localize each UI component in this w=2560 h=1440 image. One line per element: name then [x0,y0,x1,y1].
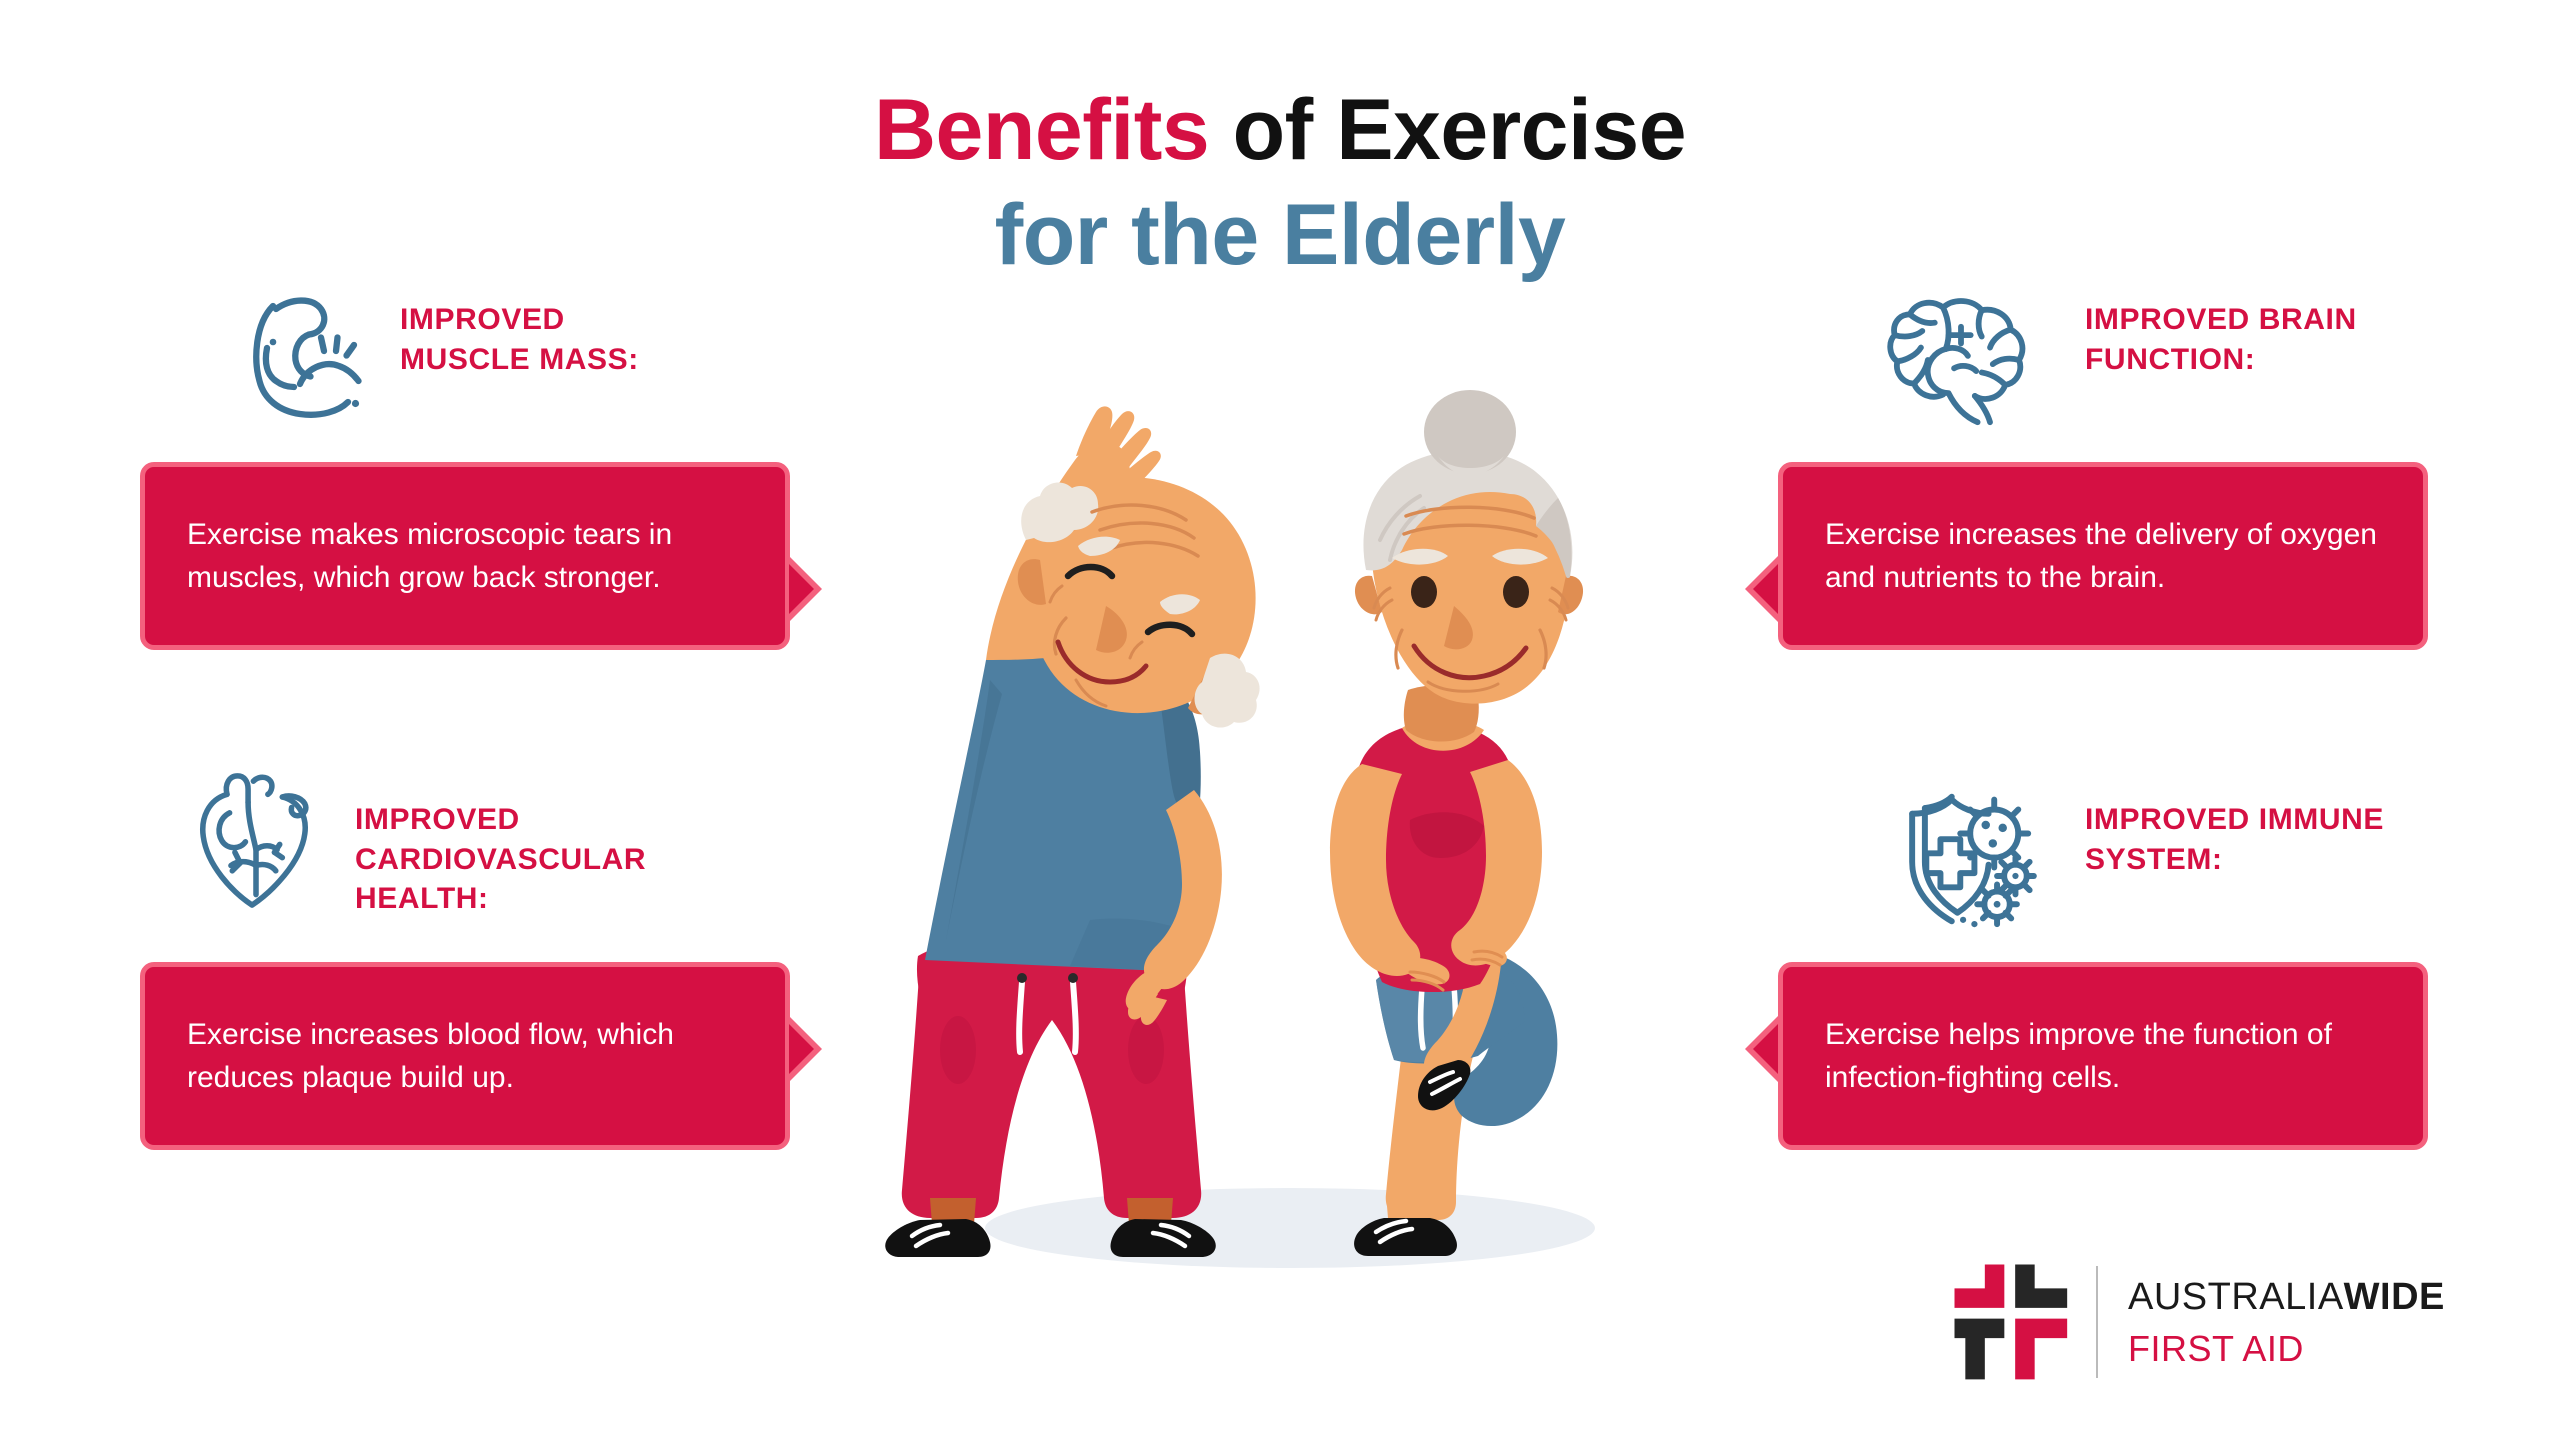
card-brain-function-text: Exercise increases the delivery of oxyge… [1825,513,2381,600]
logo-wordmark-secondary: FIRST AID [2128,1328,2304,1370]
card-brain-function: Exercise increases the delivery of oxyge… [1778,462,2428,650]
heading-muscle-mass: IMPROVED MUSCLE MASS: [400,300,700,379]
card-cardiovascular-health-text: Exercise increases blood flow, which red… [187,1013,743,1100]
title-highlight: Benefits [874,82,1209,178]
logo-word-australia: AUSTRALIA [2128,1276,2344,1318]
logo-divider [2096,1266,2098,1378]
card-immune-system-text: Exercise helps improve the function of i… [1825,1013,2381,1100]
title-rest: of Exercise [1209,82,1686,178]
title-line-1: Benefits of Exercise [0,78,2560,183]
brain-icon [1885,290,2037,430]
logo-wordmark-primary: AUSTRALIAWIDE [2128,1276,2445,1319]
heart-icon [190,768,322,913]
flexed-bicep-icon [240,288,390,438]
australia-wide-first-aid-logo[interactable]: AUSTRALIAWIDE FIRST AID [1948,1258,2428,1388]
infographic-canvas: Benefits of Exercise for the Elderly IMP… [0,0,2560,1440]
card-immune-system: Exercise helps improve the function of i… [1778,962,2428,1150]
heading-immune-system: IMPROVED IMMUNE SYSTEM: [2085,800,2405,879]
card-muscle-mass-text: Exercise makes microscopic tears in musc… [187,513,743,600]
card-muscle-mass: Exercise makes microscopic tears in musc… [140,462,790,650]
elderly-couple-exercising-illustration [790,360,1790,1340]
title-line-2: for the Elderly [0,183,2560,288]
page-title: Benefits of Exercise for the Elderly [0,78,2560,288]
card-cardiovascular-health: Exercise increases blood flow, which red… [140,962,790,1150]
australia-wide-cross-mark [1948,1258,2078,1388]
heading-brain-function: IMPROVED BRAIN FUNCTION: [2085,300,2405,379]
shield-virus-icon [1898,788,2048,930]
logo-word-wide: WIDE [2344,1276,2445,1318]
heading-cardiovascular-health: IMPROVED CARDIOVASCULAR HEALTH: [355,800,775,919]
